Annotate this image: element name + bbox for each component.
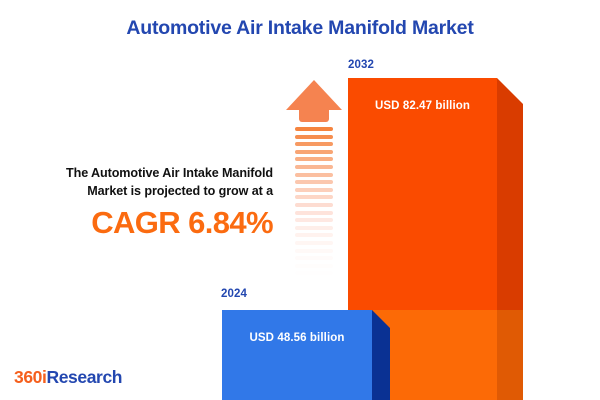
arrow-bar-15 — [295, 233, 333, 237]
brand-logo-part-2: Research — [46, 367, 122, 387]
arrow-bar-6 — [295, 165, 333, 169]
arrow-gradient-bars — [295, 127, 333, 292]
bar-2024: USD 48.56 billion — [222, 310, 390, 400]
bar-label-2032: 2032 — [348, 59, 374, 71]
arrow-bar-4 — [295, 150, 333, 154]
page-title: Automotive Air Intake Manifold Market — [0, 17, 600, 40]
bar-label-2024: 2024 — [221, 288, 247, 300]
infographic-canvas: Automotive Air Intake Manifold Market 20… — [0, 0, 600, 400]
arrow-bar-11 — [295, 203, 333, 207]
bar-2032-value-label: USD 82.47 billion — [348, 100, 497, 112]
arrow-bar-20 — [295, 271, 333, 275]
cagr-lead-line-1: The Automotive Air Intake Manifold — [66, 166, 273, 180]
brand-logo-part-1: 360i — [14, 367, 46, 387]
arrow-bar-12 — [295, 211, 333, 215]
arrow-bar-7 — [295, 173, 333, 177]
cagr-value-text: CAGR 6.84% — [8, 207, 273, 240]
arrow-bar-14 — [295, 226, 333, 230]
bar-2024-value-label: USD 48.56 billion — [222, 332, 372, 344]
growth-arrow-icon — [286, 80, 342, 292]
arrow-bar-8 — [295, 180, 333, 184]
arrow-bar-18 — [295, 256, 333, 260]
bar-2024-side-face — [372, 310, 390, 400]
arrow-bar-10 — [295, 195, 333, 199]
cagr-callout: The Automotive Air Intake Manifold Marke… — [8, 165, 273, 239]
arrow-bar-2 — [295, 135, 333, 139]
arrow-triangle-icon — [286, 80, 342, 110]
arrow-bar-1 — [295, 127, 333, 131]
brand-logo: 360iResearch — [14, 367, 122, 388]
arrow-bar-16 — [295, 241, 333, 245]
arrow-bar-5 — [295, 157, 333, 161]
bar-2024-front-face — [222, 310, 372, 400]
arrow-bar-13 — [295, 218, 333, 222]
arrow-head-icon — [286, 80, 342, 125]
arrow-bar-19 — [295, 264, 333, 268]
cagr-lead-line-2: Market is projected to grow at a — [87, 184, 273, 198]
bar-2032-side-face-lower — [497, 310, 523, 400]
arrow-bar-3 — [295, 142, 333, 146]
arrow-bar-9 — [295, 188, 333, 192]
arrow-neck-icon — [299, 109, 329, 122]
arrow-bar-17 — [295, 249, 333, 253]
cagr-lead-text: The Automotive Air Intake Manifold Marke… — [8, 165, 273, 201]
